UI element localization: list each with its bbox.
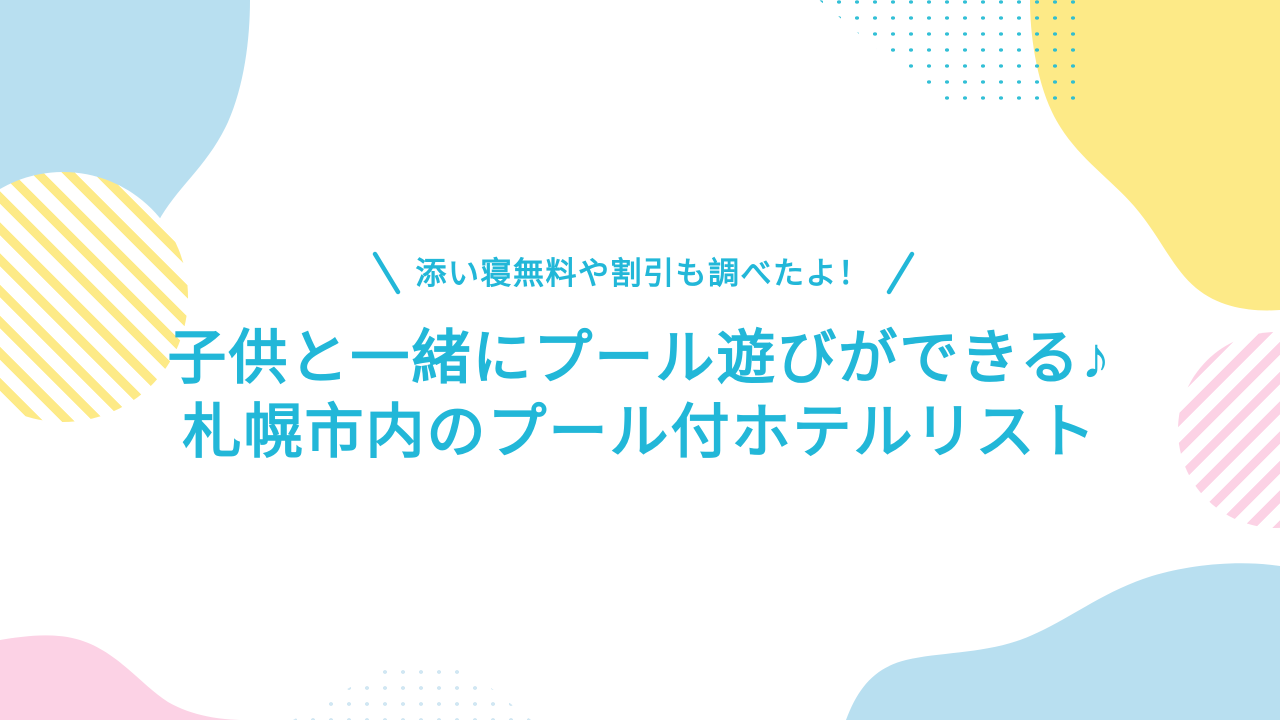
headline-line-2: 札幌市内のプール付ホテルリスト bbox=[167, 396, 1112, 470]
banner-canvas: 添い寝無料や割引も調べたよ！ 子供と一緒にプール遊びができる♪ 札幌市内のプール… bbox=[0, 0, 1280, 720]
subtitle-row: 添い寝無料や割引も調べたよ！ bbox=[372, 250, 915, 296]
slash-left-icon bbox=[372, 250, 402, 296]
banner-content: 添い寝無料や割引も調べたよ！ 子供と一緒にプール遊びができる♪ 札幌市内のプール… bbox=[0, 0, 1280, 720]
headline-line-1: 子供と一緒にプール遊びができる♪ bbox=[167, 322, 1112, 396]
slash-right-icon bbox=[885, 250, 915, 296]
banner-subtitle: 添い寝無料や割引も調べたよ！ bbox=[416, 258, 871, 289]
banner-headline: 子供と一緒にプール遊びができる♪ 札幌市内のプール付ホテルリスト bbox=[167, 322, 1112, 470]
